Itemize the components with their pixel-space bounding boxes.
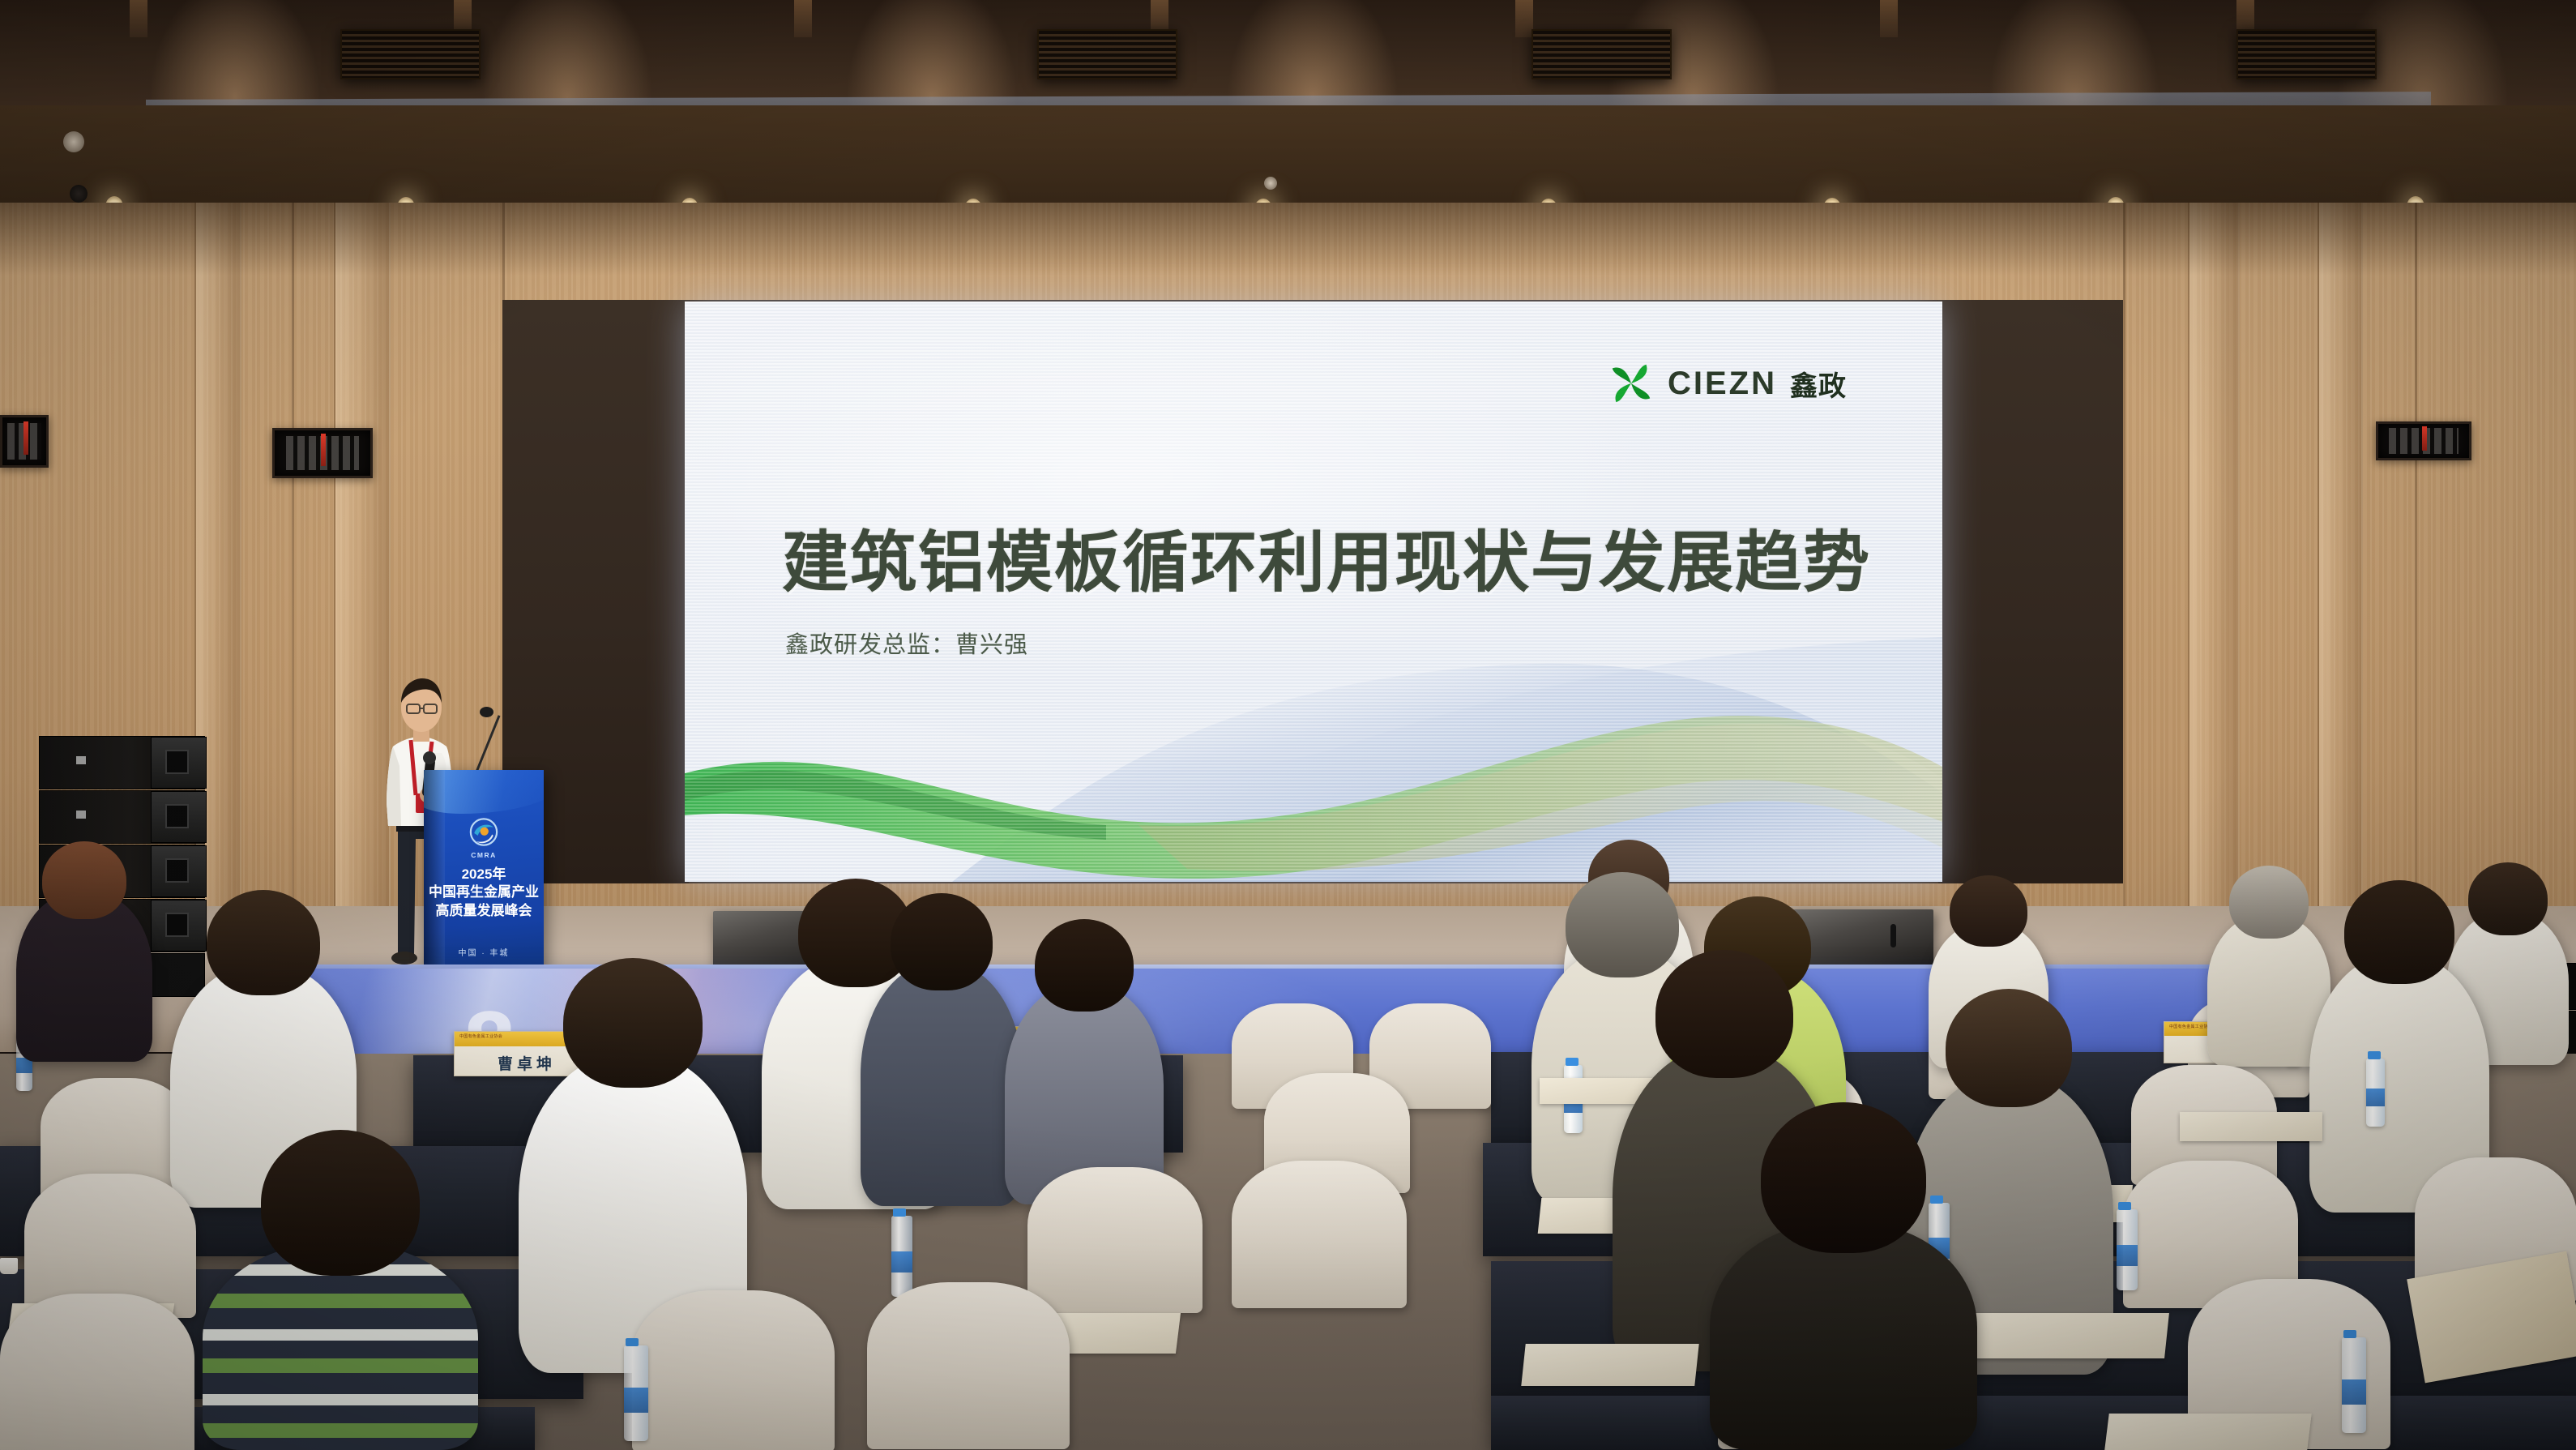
audience-person (203, 1243, 478, 1450)
person-head (1655, 950, 1793, 1078)
ceiling-vent-grille (1532, 29, 1672, 79)
slide-brand-logo: CIEZN 鑫政 (1608, 360, 1847, 407)
line-array-module (39, 790, 205, 844)
podium-title-line3: 高质量发展峰会 (424, 902, 544, 920)
bottle-cap (1566, 1058, 1578, 1066)
audience-person (1710, 1222, 1977, 1450)
ceiling-vent-grille (340, 29, 481, 79)
module-badge (76, 811, 86, 819)
ceiling-beam (1880, 0, 1898, 37)
audience-chair (867, 1282, 1070, 1449)
ceiling-beam (1515, 0, 1533, 37)
person-head (1761, 1102, 1926, 1253)
bottle-cap (893, 1208, 906, 1217)
module-horn (151, 791, 207, 843)
wall-pilaster (2318, 203, 2363, 1005)
wedge-handle-slot (1890, 924, 1896, 947)
paper-cup (0, 1258, 18, 1274)
person-head (2344, 880, 2454, 984)
module-horn (151, 900, 207, 952)
ceiling-camera-dome (63, 131, 84, 152)
person-head (563, 958, 703, 1088)
bottle-label (2342, 1379, 2366, 1405)
audience-chair (1232, 1161, 1407, 1308)
screen-right-bezel (1938, 300, 2123, 883)
person-head (891, 893, 993, 990)
audience-person (861, 963, 1023, 1206)
water-bottle (2117, 1209, 2138, 1290)
nameplate-org: 中国有色金属工业协会 (459, 1033, 502, 1039)
bottle-label (2366, 1089, 2385, 1106)
module-horn (151, 845, 207, 897)
water-bottle (2366, 1059, 2385, 1127)
slide-title: 建筑铝模板循环利用现状与发展趋势 (782, 508, 1871, 605)
wall-niche-decor-icon (2376, 421, 2471, 460)
wall-top-shadow (0, 203, 2576, 276)
water-bottle (2342, 1337, 2366, 1433)
person-head (2468, 862, 2548, 935)
person-head (1950, 875, 2027, 947)
person-head (1566, 872, 1679, 977)
niche-accent (23, 421, 28, 455)
ceiling-vent-grille (2236, 29, 2377, 79)
wall-niche-decor-icon (272, 428, 373, 478)
bottle-cap (1930, 1196, 1943, 1204)
module-horn (151, 737, 207, 789)
water-bottle (624, 1345, 648, 1441)
wall-niche-decor-icon (0, 415, 49, 468)
module-port (165, 913, 188, 937)
podium-title: 2025年 中国再生金属产业 高质量发展峰会 (424, 866, 544, 920)
ceiling-sensor (70, 185, 88, 203)
person-head (207, 890, 320, 995)
document-on-table (2104, 1414, 2312, 1450)
podium-footer-location: 中国 · 丰城 (424, 946, 544, 958)
wall-pilaster (2188, 203, 2240, 1005)
audience-chair (632, 1290, 835, 1450)
bottle-cap (2368, 1051, 2381, 1059)
slide-subtitle: 鑫政研发总监：曹兴强 (785, 626, 1028, 660)
niche-accent (2422, 426, 2427, 450)
niche-accent (321, 434, 326, 465)
slide-logo-chinese: 鑫政 (1790, 364, 1847, 404)
audience-person (16, 892, 152, 1062)
ceiling-beam (130, 0, 147, 37)
person-head (1035, 919, 1134, 1012)
module-port (165, 804, 188, 828)
person-head (2229, 866, 2309, 939)
document-on-table (1967, 1313, 2169, 1358)
bottle-cap (2343, 1330, 2356, 1338)
ceiling-vent-grille (1037, 29, 1177, 79)
person-head (261, 1130, 420, 1276)
module-port (165, 750, 188, 774)
ceiling-beam (794, 0, 812, 37)
ceiling-speaker-dome (1264, 177, 1277, 190)
audience-chair (0, 1294, 194, 1450)
bottle-cap (626, 1338, 639, 1346)
slide-wave-graphic (685, 622, 1942, 882)
document-on-table (2180, 1112, 2322, 1141)
bottle-label (891, 1251, 912, 1272)
module-badge (76, 756, 86, 764)
water-bottle (891, 1216, 912, 1297)
bottle-cap (2118, 1202, 2131, 1210)
slide-logo-wordmark: CIEZN (1668, 366, 1777, 402)
bottle-label (2117, 1245, 2138, 1266)
led-screen-assembly: CIEZN 鑫政 建筑铝模板循环利用现状与发展趋势 鑫政研发总监：曹兴强 (502, 300, 2123, 883)
document-on-table (1521, 1344, 1698, 1386)
audience-table (1491, 1396, 2576, 1450)
nameplate-org: 中国有色金属工业协会 (2169, 1024, 2212, 1029)
wall-panel-seam (2123, 203, 2125, 1005)
audience-chair (1027, 1167, 1203, 1313)
bottle-label (624, 1388, 648, 1413)
cmra-logo-icon (466, 815, 502, 851)
microphone-head-icon (480, 707, 493, 717)
line-array-module (39, 736, 205, 789)
cmra-acronym: CMRA (424, 851, 544, 859)
conference-hall-photo: CIEZN 鑫政 建筑铝模板循环利用现状与发展趋势 鑫政研发总监：曹兴强 (0, 0, 2576, 1450)
person-head (1946, 989, 2072, 1107)
wall-panel-seam (292, 203, 294, 1005)
ciezn-pinwheel-logo-icon (1608, 360, 1655, 407)
person-head (42, 841, 126, 919)
podium-title-line2: 中国再生金属产业 (424, 883, 544, 901)
podium: CMRA 2025年 中国再生金属产业 高质量发展峰会 中国 · 丰城 (424, 770, 544, 973)
module-port (165, 858, 188, 883)
podium-title-line1: 2025年 (424, 866, 544, 883)
presentation-slide: CIEZN 鑫政 建筑铝模板循环利用现状与发展趋势 鑫政研发总监：曹兴强 (685, 302, 1942, 882)
